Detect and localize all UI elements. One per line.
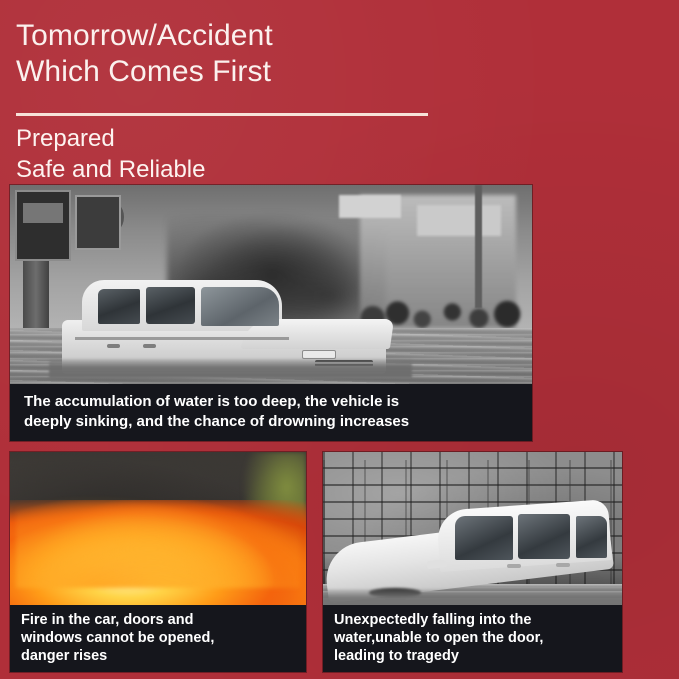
caption-line: The accumulation of water is too deep, t… (24, 392, 522, 412)
sedan-windshield (201, 287, 279, 325)
sedan-trim (75, 337, 289, 340)
sedan-rear-window (576, 516, 608, 558)
poster-title-line-1: Tomorrow/Accident (16, 18, 576, 54)
photo-caption-burning-car: Fire in the car, doors and windows canno… (10, 605, 306, 672)
poster-header: Tomorrow/Accident Which Comes First (16, 18, 576, 90)
caption-line: danger rises (21, 647, 298, 665)
photo-flooded-street: The accumulation of water is too deep, t… (10, 185, 532, 441)
sinking-sedan (329, 509, 616, 615)
caption-line: water,unable to open the door, (334, 629, 614, 647)
sedan-headlight (302, 350, 336, 359)
photo-burning-car: Fire in the car, doors and windows canno… (10, 452, 306, 672)
photo-caption-flooded-street: The accumulation of water is too deep, t… (10, 384, 532, 441)
photo-caption-sinking-car: Unexpectedly falling into the water,unab… (323, 605, 622, 672)
poster-subtitle-line-1: Prepared (16, 123, 205, 154)
street-sign-board (15, 190, 71, 261)
billboard-sign (417, 205, 501, 236)
caption-line: Unexpectedly falling into the (334, 611, 614, 629)
flame-tongues (16, 487, 300, 588)
direction-arrow-sign (339, 195, 402, 218)
sedan-door-handle-front (507, 564, 521, 568)
lamp-post (475, 185, 482, 308)
safety-poster: Tomorrow/Accident Which Comes First Prep… (0, 0, 679, 679)
caption-line: Fire in the car, doors and (21, 611, 298, 629)
sedan-side-window (518, 514, 570, 558)
sedan-waterline (323, 589, 622, 606)
poster-title-line-2: Which Comes First (16, 54, 576, 90)
caption-line: windows cannot be opened, (21, 629, 298, 647)
caption-line: leading to tragedy (334, 647, 614, 665)
street-sign-secondary (75, 195, 121, 250)
sedan-waterline (49, 359, 411, 378)
poster-subtitle-line-2: Safe and Reliable (16, 154, 205, 185)
photo-sinking-car: Unexpectedly falling into the water,unab… (323, 452, 622, 672)
header-divider (16, 113, 428, 116)
sedan-door-handle-front (143, 344, 156, 348)
sedan-windshield (455, 516, 512, 560)
sedan-door-handle-rear (556, 563, 570, 567)
sedan-door-handle-rear (107, 344, 120, 348)
caption-line: deeply sinking, and the chance of drowni… (24, 412, 522, 432)
submerged-sedan (62, 287, 386, 374)
sedan-side-window (146, 287, 195, 324)
sedan-rear-window (98, 289, 140, 324)
poster-subtitle: Prepared Safe and Reliable (16, 123, 205, 185)
